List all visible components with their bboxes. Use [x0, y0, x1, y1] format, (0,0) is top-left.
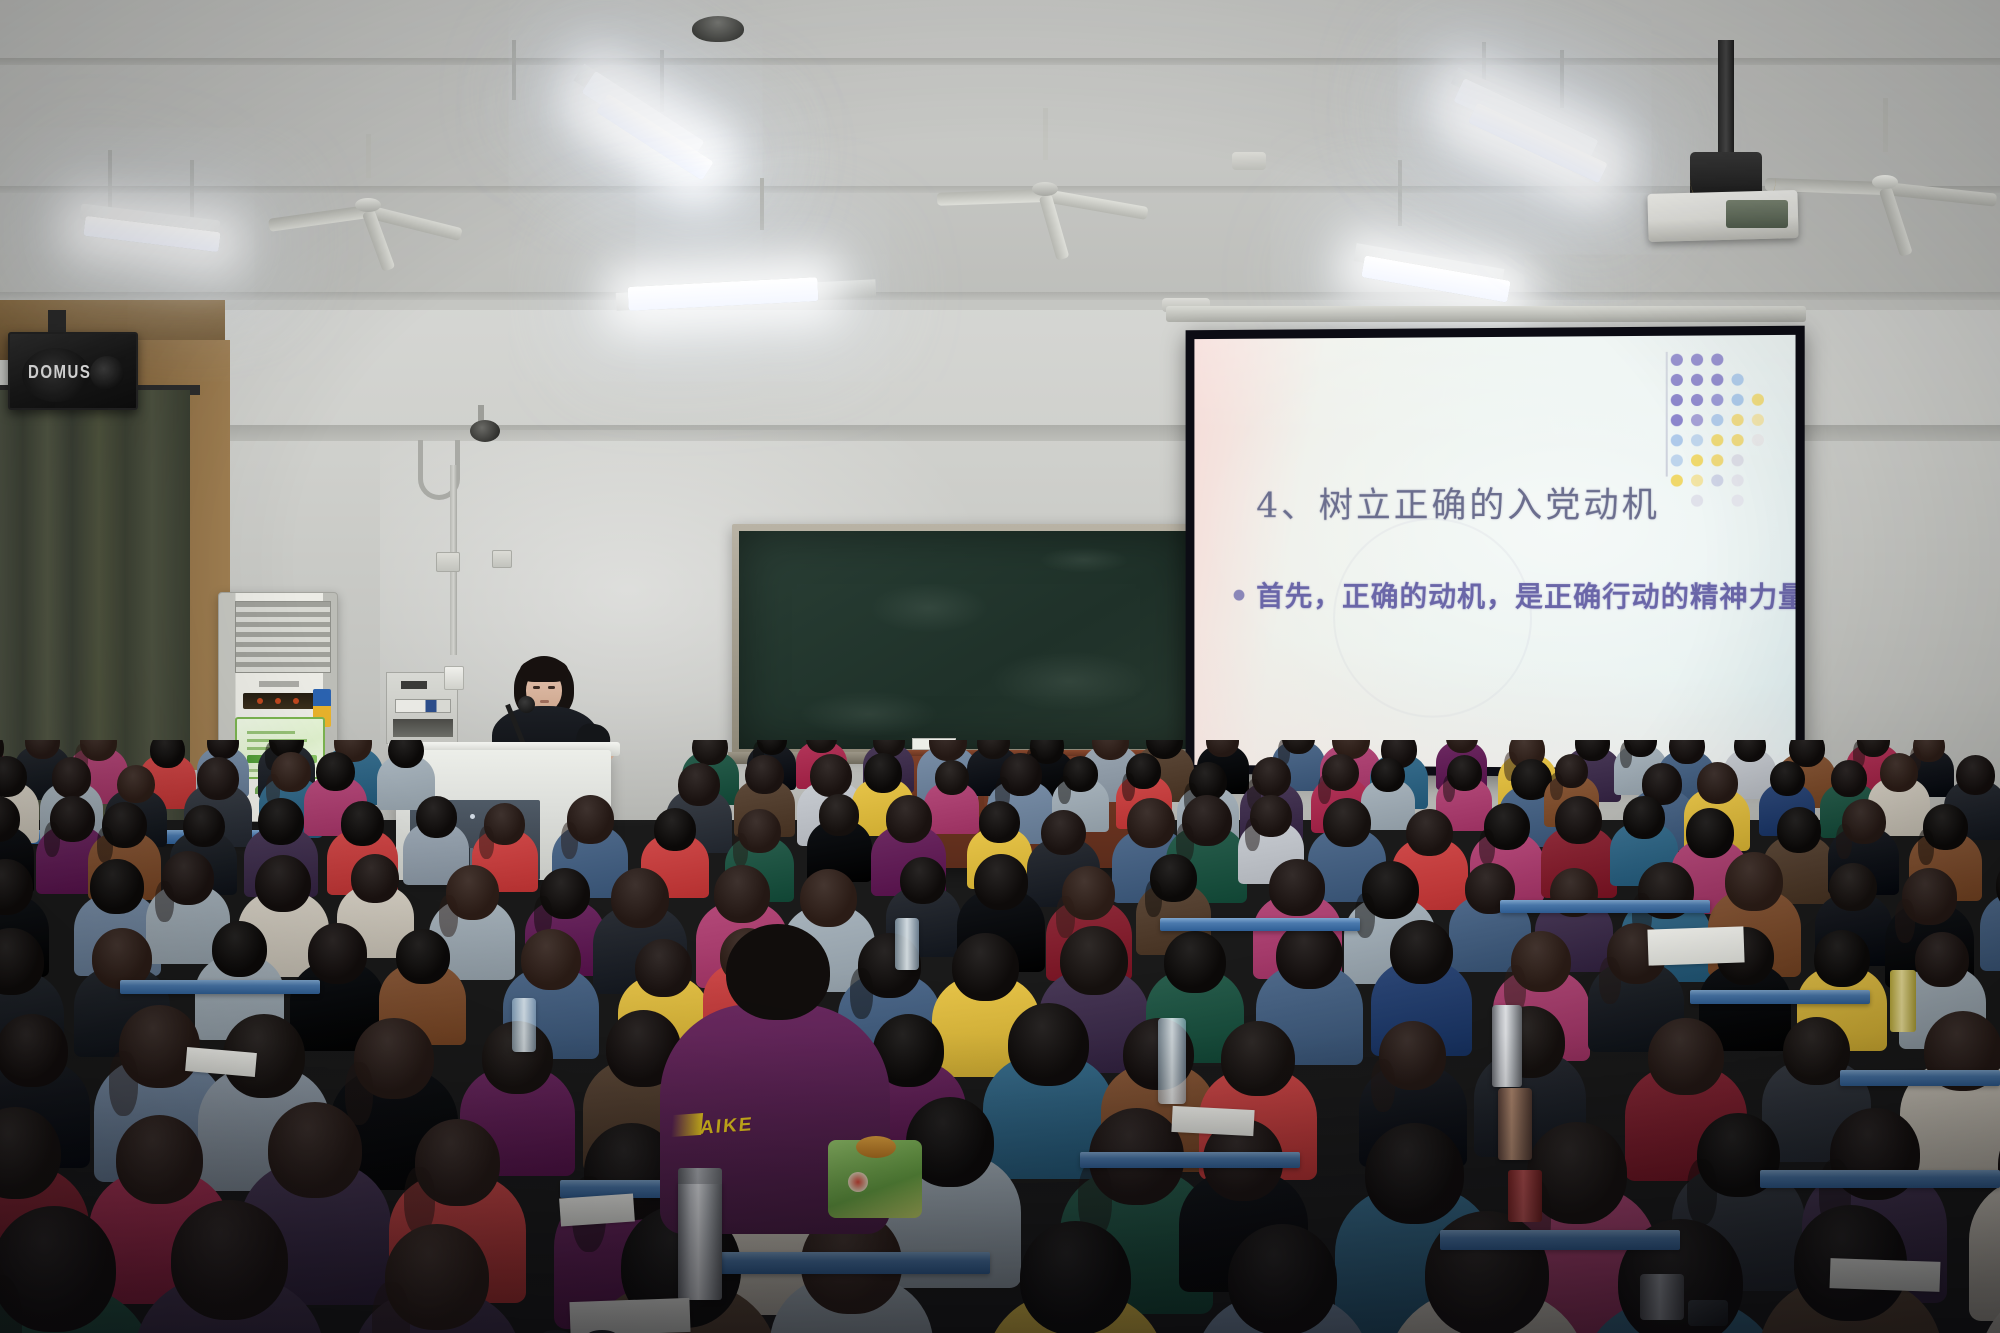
- hair-strand: [372, 1282, 410, 1333]
- student-head: [258, 798, 304, 845]
- hair-strand: [561, 822, 578, 860]
- deco-dot: [1711, 495, 1723, 507]
- slide-title: 4、树立正确的入党动机: [1256, 477, 1660, 529]
- hair-strand: [1056, 896, 1075, 938]
- deco-dot: [1732, 353, 1744, 365]
- deco-dot: [1711, 474, 1723, 486]
- panel-label: [401, 681, 427, 689]
- hair-strand: [733, 833, 748, 867]
- slide-surface: 4、树立正确的入党动机 首先，正确的动机，是正确行动的精神力量。: [1194, 335, 1795, 769]
- blackboard-surface: [739, 531, 1193, 749]
- student-head: [726, 924, 830, 1020]
- student-head: [1228, 1224, 1337, 1333]
- lamp-stem: [760, 178, 764, 230]
- ac-indicator-dot: [257, 698, 263, 704]
- student-head: [212, 921, 267, 977]
- fan-hub: [1872, 175, 1898, 189]
- bullet-dot-icon: [1234, 589, 1245, 600]
- fan-hub: [355, 198, 381, 212]
- hair-strand: [1620, 742, 1632, 768]
- jacket-logo-partial: [671, 1113, 703, 1137]
- hair-strand: [1058, 776, 1071, 804]
- student-head: [1276, 922, 1342, 989]
- hair-strand: [1687, 1159, 1717, 1224]
- lecturer-fringe: [520, 658, 568, 682]
- deco-dot: [1732, 394, 1744, 406]
- desk-row: [1690, 990, 1870, 1004]
- blackboard: [732, 524, 1200, 756]
- hair-strand: [44, 822, 60, 858]
- desk-row: [1080, 1152, 1300, 1168]
- speaker-tweeter-icon: [90, 356, 124, 390]
- student-head: [117, 765, 155, 804]
- student-head: [1323, 798, 1371, 847]
- deco-dot: [1732, 374, 1744, 386]
- chalk-smudge: [1039, 547, 1129, 573]
- wall-sensor-icon: [444, 666, 464, 690]
- student-head: [255, 855, 311, 912]
- stacked-books: [1647, 926, 1744, 965]
- student-head: [1831, 760, 1867, 797]
- student-head: [1406, 809, 1453, 857]
- student-head: [1020, 1221, 1131, 1333]
- water-bottle: [512, 998, 536, 1052]
- slide-bullet-item: 首先，正确的动机，是正确行动的精神力量。: [1234, 575, 1796, 616]
- smartphone[interactable]: [1688, 1300, 1728, 1326]
- student-head: [654, 808, 696, 851]
- deco-dot: [1752, 373, 1764, 385]
- student-head: [1770, 761, 1805, 797]
- deco-dot: [1691, 374, 1703, 386]
- deco-dot: [1711, 434, 1723, 446]
- deco-dot: [1732, 495, 1744, 507]
- hair-strand: [97, 827, 113, 863]
- hair-strand: [1122, 773, 1135, 801]
- deco-dot: [1671, 354, 1683, 366]
- wall-socket[interactable]: [492, 550, 512, 568]
- deco-dot: [1691, 434, 1703, 446]
- fan-blade: [1884, 182, 1997, 207]
- student-head: [1648, 1018, 1724, 1095]
- notebook-page: [569, 1298, 690, 1333]
- fan-rod: [1043, 108, 1048, 160]
- lamp-stem: [1560, 50, 1564, 108]
- fan-hub: [1032, 182, 1058, 196]
- ceiling-beam: [0, 292, 2000, 299]
- deco-dot: [1732, 434, 1744, 446]
- deco-dot: [1691, 454, 1703, 466]
- speaker-brand-label: DOMUS: [28, 362, 91, 383]
- ceiling-fan: [930, 158, 1160, 220]
- hair-strand: [1355, 893, 1375, 938]
- ac-indicator-dot: [275, 698, 281, 704]
- student-head: [1041, 810, 1086, 856]
- notebook-page: [1171, 1106, 1254, 1136]
- audience-area: AIKE: [0, 740, 2000, 1333]
- student-head: [886, 795, 933, 843]
- student-head: [714, 865, 771, 923]
- deco-dot: [1671, 394, 1683, 406]
- hair-strand: [479, 826, 494, 859]
- snack-item: [848, 1172, 868, 1192]
- slide-watermark: [1333, 518, 1532, 718]
- student-head: [1623, 796, 1665, 839]
- ac-indicator-dot: [293, 698, 299, 704]
- student-head: [52, 757, 91, 797]
- deco-dot: [1752, 353, 1764, 365]
- lecturer-eye: [533, 686, 540, 689]
- thermos-bottle: [1498, 1088, 1532, 1160]
- ac-display-panel: [243, 693, 315, 709]
- lamp-stem: [1398, 160, 1402, 226]
- deco-dot: [1671, 374, 1683, 386]
- deco-dot: [1711, 354, 1723, 366]
- sticker-line: [247, 731, 295, 734]
- student-head: [1008, 1003, 1089, 1086]
- hair-strand: [1318, 775, 1331, 804]
- deco-dot: [1691, 414, 1703, 426]
- student-head: [1390, 920, 1453, 984]
- deco-dot: [1732, 454, 1744, 466]
- student-head: [316, 752, 355, 792]
- snack-item: [856, 1136, 896, 1158]
- ceiling-junction-box: [1232, 152, 1266, 170]
- student-body: [1969, 1176, 2000, 1322]
- student-head: [341, 801, 385, 845]
- security-camera-icon: [470, 420, 500, 442]
- deco-dot: [1711, 454, 1723, 466]
- hair-strand: [1479, 829, 1496, 866]
- student-head: [351, 854, 399, 903]
- deco-dot: [1671, 475, 1683, 487]
- desk-row: [1500, 900, 1710, 913]
- student-head: [308, 923, 367, 983]
- lecturer-eye: [548, 686, 555, 689]
- hair-strand: [1145, 880, 1162, 917]
- deco-dot: [1752, 414, 1764, 426]
- student-head: [1956, 755, 1995, 795]
- chalk-smudge: [799, 691, 939, 737]
- deco-dot: [1671, 434, 1683, 446]
- student-head: [1777, 807, 1822, 852]
- hair-strand: [109, 1051, 138, 1116]
- smoke-detector-icon: [692, 16, 744, 42]
- lecturer-mouth: [540, 700, 549, 703]
- fan-blade: [1044, 189, 1149, 220]
- lamp-stem: [512, 40, 516, 100]
- panel-breakers: [395, 699, 451, 713]
- hair-strand: [1550, 773, 1562, 800]
- deco-dot: [1711, 414, 1723, 426]
- ceiling-fan: [268, 176, 468, 234]
- student-head: [1915, 932, 1969, 987]
- fan-rod: [366, 134, 371, 178]
- microphone-head-icon: [518, 696, 535, 713]
- slide-bullet-text: 首先，正确的动机，是正确行动的精神力量。: [1256, 575, 1795, 616]
- deco-dot: [1691, 394, 1703, 406]
- slide-deco-line: [1666, 352, 1668, 477]
- lecture-hall-photo: DOMUS: [0, 0, 2000, 1333]
- hair-strand: [1371, 1059, 1395, 1112]
- yellow-bottle: [1890, 970, 1916, 1032]
- desk-row: [1160, 918, 1360, 931]
- student-head: [1880, 753, 1918, 792]
- deco-dot: [1691, 474, 1703, 486]
- student-head: [810, 754, 852, 797]
- deco-dot: [1732, 474, 1744, 486]
- student-head: [197, 757, 239, 800]
- deco-dot: [1752, 454, 1764, 466]
- projector-ports: [1726, 200, 1788, 228]
- panel-lower: [393, 719, 453, 737]
- fan-rod: [1883, 98, 1888, 152]
- student-head: [1725, 852, 1783, 911]
- wall-speaker: DOMUS: [8, 332, 138, 410]
- hair-strand: [1599, 957, 1620, 1004]
- ac-brand-plate: [259, 681, 299, 687]
- student-head: [0, 1014, 68, 1087]
- student-head: [416, 796, 457, 838]
- water-bottle: [1158, 1018, 1186, 1104]
- student-head: [745, 755, 783, 794]
- projector-pole: [1718, 40, 1734, 160]
- hair-strand: [1245, 818, 1260, 851]
- deco-dot: [1671, 495, 1683, 507]
- hair-strand: [1836, 824, 1852, 859]
- hair-strand: [439, 895, 458, 937]
- desk-row: [1440, 1230, 1680, 1250]
- deco-dot: [1752, 434, 1764, 446]
- deco-dot: [1691, 354, 1703, 366]
- student-head: [1697, 762, 1738, 804]
- desk-row: [120, 980, 320, 994]
- student-head: [800, 869, 857, 927]
- desk-row: [690, 1252, 990, 1274]
- wall-socket[interactable]: [436, 552, 460, 572]
- jacket-logo-text: AIKE: [699, 1114, 754, 1140]
- student-head: [1127, 798, 1176, 848]
- fan-blade: [937, 189, 1045, 206]
- student-head: [171, 1200, 288, 1320]
- student-head: [1269, 859, 1324, 915]
- student-head: [678, 763, 719, 805]
- deco-dot: [1671, 454, 1683, 466]
- student-head: [1829, 863, 1877, 912]
- student-head: [1060, 926, 1128, 996]
- projection-screen-housing: [1166, 306, 1806, 322]
- student-head: [183, 805, 225, 847]
- deco-dot: [1711, 394, 1723, 406]
- slide-deco-dot-grid: [1671, 353, 1769, 512]
- student-head: [1814, 930, 1870, 987]
- thermos-bottle: [678, 1180, 722, 1300]
- student-head: [611, 868, 669, 927]
- hair-strand: [1918, 829, 1934, 865]
- thermos-bottle: [1492, 1005, 1522, 1087]
- deco-dot: [1732, 414, 1744, 426]
- lamp-stem: [660, 50, 664, 112]
- red-can: [1508, 1170, 1542, 1222]
- thermos-cap: [678, 1168, 722, 1184]
- deco-dot: [1752, 494, 1764, 506]
- chalk-smudge: [989, 651, 1149, 711]
- deco-dot: [1671, 414, 1683, 426]
- deco-dot: [1711, 374, 1723, 386]
- ac-grille: [235, 601, 331, 673]
- hair-strand: [1443, 775, 1456, 803]
- chalk-smudge: [869, 583, 989, 633]
- student-head: [1365, 1123, 1464, 1224]
- student-head: [1371, 758, 1404, 792]
- hair-strand: [155, 881, 174, 923]
- fan-blade: [268, 205, 369, 232]
- student-head: [90, 859, 144, 914]
- hair-strand: [1895, 899, 1915, 943]
- student-head: [864, 753, 902, 792]
- desk-row: [1760, 1170, 2000, 1188]
- student-head: [979, 801, 1020, 842]
- student-head: [396, 929, 450, 984]
- student-head: [974, 854, 1028, 909]
- deco-dot: [1691, 495, 1703, 507]
- water-bottle: [895, 918, 919, 970]
- student-head: [1221, 1021, 1295, 1096]
- notebook-page: [559, 1193, 635, 1226]
- student-head: [1164, 931, 1225, 993]
- student-head: [268, 1102, 362, 1198]
- student-head: [1686, 808, 1735, 858]
- desk-row: [1840, 1070, 2000, 1086]
- notebook-page: [1830, 1258, 1941, 1292]
- student-head: [935, 760, 969, 795]
- student-head: [952, 933, 1019, 1001]
- student-head: [1555, 796, 1602, 844]
- deco-dot: [1752, 474, 1764, 486]
- student-head: [521, 929, 581, 990]
- ceiling-beam: [0, 58, 2000, 65]
- student-head: [819, 794, 859, 835]
- student-body: [1980, 892, 2000, 971]
- projection-screen: 4、树立正确的入党动机 首先，正确的动机，是正确行动的精神力量。: [1186, 326, 1805, 779]
- student-head: [116, 1115, 203, 1204]
- deco-dot: [1752, 394, 1764, 406]
- student-head: [900, 857, 946, 904]
- metal-can: [1640, 1274, 1684, 1320]
